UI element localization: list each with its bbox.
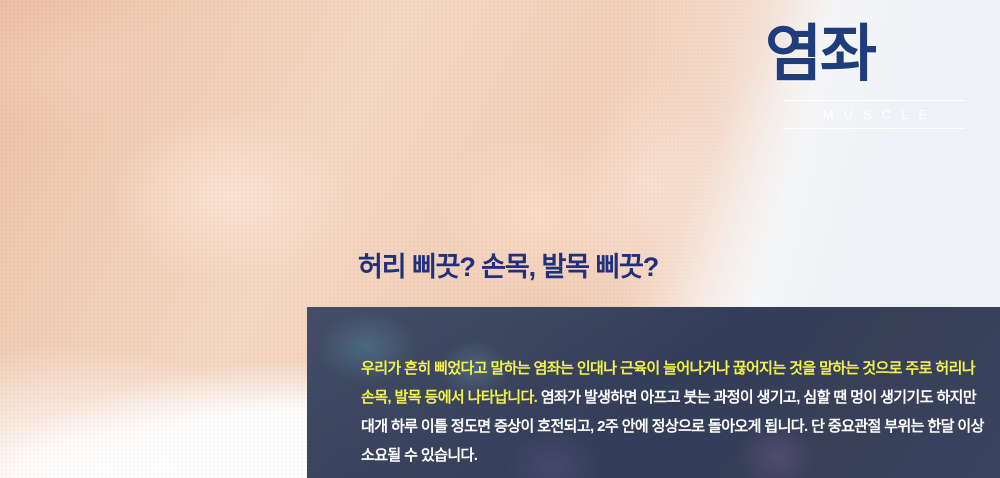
english-subtitle-group: MUSCLE — [784, 100, 966, 129]
english-subtitle: MUSCLE — [784, 101, 966, 128]
page-title: 염좌 — [672, 24, 972, 86]
title-block: 염좌 MUSCLE — [672, 24, 972, 129]
description-paragraph: 우리가 흔히 삐었다고 말하는 염좌는 인대나 근육이 늘어나거나 끊어지는 것… — [361, 354, 986, 470]
subtitle-rule-top — [784, 100, 966, 101]
sprain-info-banner: 염좌 MUSCLE 허리 삐끗? 손목, 발목 삐끗? 우리가 흔히 삐었다고 … — [0, 0, 1000, 478]
headline: 허리 삐끗? 손목, 발목 삐끗? — [358, 245, 658, 284]
description-panel: 우리가 흔히 삐었다고 말하는 염좌는 인대나 근육이 늘어나거나 끊어지는 것… — [307, 307, 1000, 478]
subtitle-rule-bottom — [784, 128, 966, 129]
